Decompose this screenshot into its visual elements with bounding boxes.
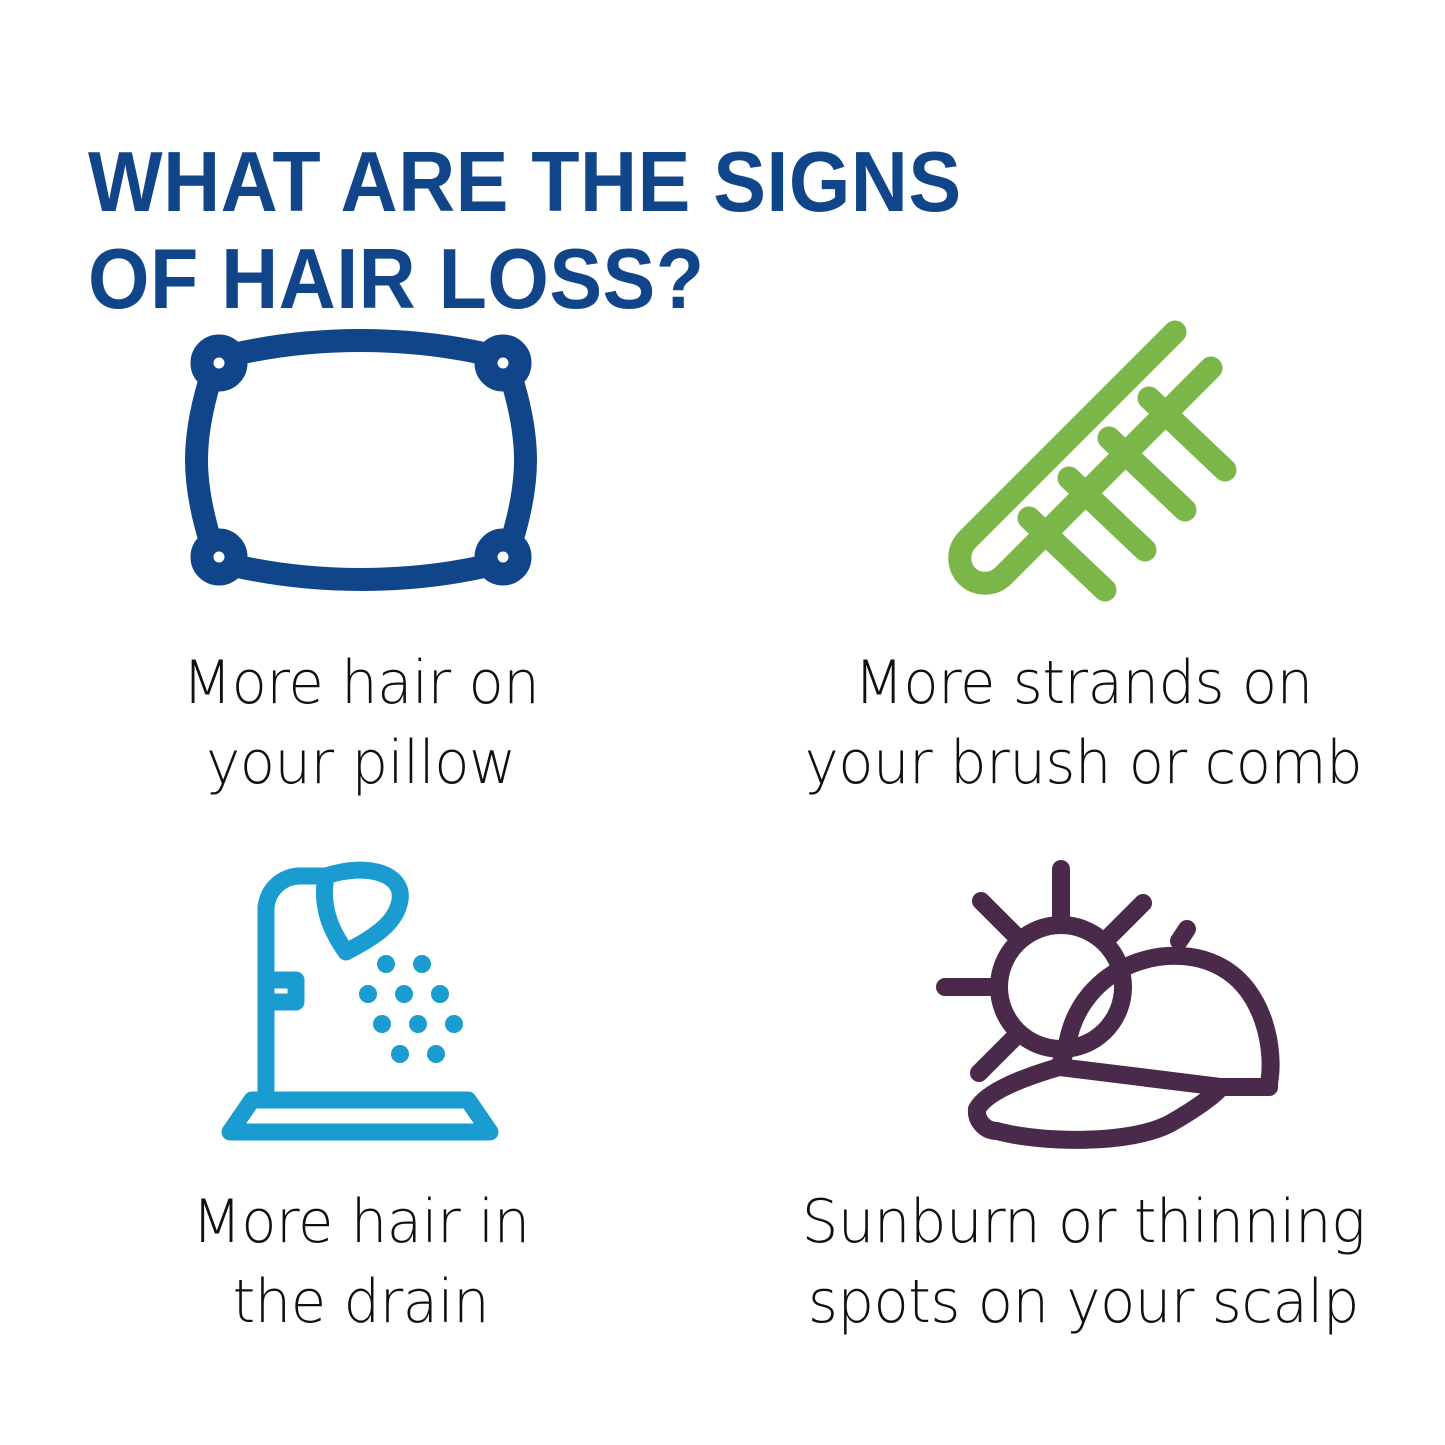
comb-icon [705,300,1445,620]
pillow-icon [0,300,723,620]
hair-loss-signs-infographic: WHAT ARE THE SIGNS OF HAIR LOSS? [0,0,1445,1445]
sun-and-cap-icon [701,845,1445,1165]
sign-item-comb: More strands on your brush or comb [723,300,1445,845]
sign-caption-pillow: More hair on your pillow [183,644,540,804]
sign-item-pillow: More hair on your pillow [0,300,723,845]
sign-caption-cap: Sunburn or thinning spots on your scalp [802,1183,1365,1343]
sign-caption-shower: More hair in the drain [192,1183,530,1343]
sign-item-shower: More hair in the drain [0,845,723,1390]
shower-icon [0,845,730,1165]
sign-item-cap: Sunburn or thinning spots on your scalp [723,845,1445,1390]
sign-caption-comb: More strands on your brush or comb [805,644,1363,804]
signs-grid: More hair on your pillow More strands on… [0,300,1445,1390]
